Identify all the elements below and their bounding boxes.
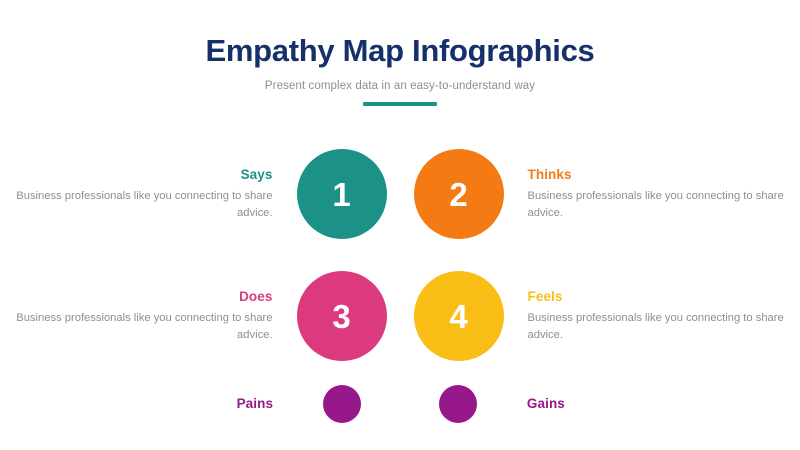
quadrant-desc-does: Business professionals like you connecti… xyxy=(0,310,273,342)
quadrant-does: Does Business professionals like you con… xyxy=(0,289,297,343)
circle-gains[interactable] xyxy=(439,385,477,423)
circle-3[interactable]: 3 xyxy=(297,271,387,361)
circle-2[interactable]: 2 xyxy=(414,149,504,239)
circle-4[interactable]: 4 xyxy=(414,271,504,361)
quadrant-desc-thinks: Business professionals like you connecti… xyxy=(528,188,800,220)
circle-pair-top: 1 2 xyxy=(297,149,504,239)
quadrant-thinks: Thinks Business professionals like you c… xyxy=(504,167,800,221)
circle-pains[interactable] xyxy=(323,385,361,423)
footer-circle-pair xyxy=(297,385,503,423)
footer-row: Pains Gains xyxy=(0,383,800,425)
quadrant-label-thinks: Thinks xyxy=(528,167,800,183)
circle-1[interactable]: 1 xyxy=(297,149,387,239)
footer-label-gains: Gains xyxy=(527,396,800,412)
quadrant-label-feels: Feels xyxy=(528,289,800,305)
quadrant-row-2: Does Business professionals like you con… xyxy=(0,270,800,362)
quadrant-feels: Feels Business professionals like you co… xyxy=(504,289,800,343)
title-divider xyxy=(363,102,437,106)
quadrant-says: Says Business professionals like you con… xyxy=(0,167,297,221)
quadrant-label-says: Says xyxy=(0,167,273,183)
quadrant-row-1: Says Business professionals like you con… xyxy=(0,148,800,240)
footer-gains: Gains xyxy=(503,396,800,412)
quadrant-label-does: Does xyxy=(0,289,273,305)
infographic-slide: Empathy Map Infographics Present complex… xyxy=(0,0,800,450)
footer-pains: Pains xyxy=(0,396,297,412)
quadrant-desc-says: Business professionals like you connecti… xyxy=(0,188,273,220)
header: Empathy Map Infographics Present complex… xyxy=(0,34,800,106)
footer-label-pains: Pains xyxy=(0,396,273,412)
circle-pair-bottom: 3 4 xyxy=(297,271,504,361)
quadrant-desc-feels: Business professionals like you connecti… xyxy=(528,310,800,342)
page-title: Empathy Map Infographics xyxy=(0,34,800,68)
page-subtitle: Present complex data in an easy-to-under… xyxy=(0,80,800,92)
